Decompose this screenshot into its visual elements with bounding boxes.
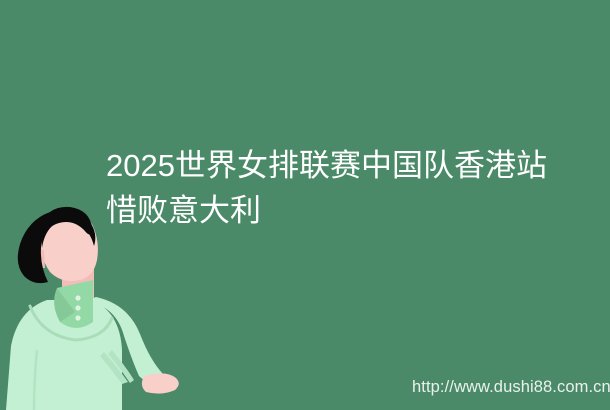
collar-button-2 — [75, 305, 80, 310]
collar-button-1 — [75, 295, 80, 300]
collar-button-3 — [75, 315, 80, 320]
hand-shape — [142, 373, 179, 393]
page-title: 2025世界女排联赛中国队香港站惜败意大利 — [106, 143, 554, 233]
watermark-url: http://www.dushi88.com.cn — [412, 377, 610, 397]
article-cover-card: 2025世界女排联赛中国队香港站惜败意大利 http://www.dushi88… — [0, 0, 610, 410]
